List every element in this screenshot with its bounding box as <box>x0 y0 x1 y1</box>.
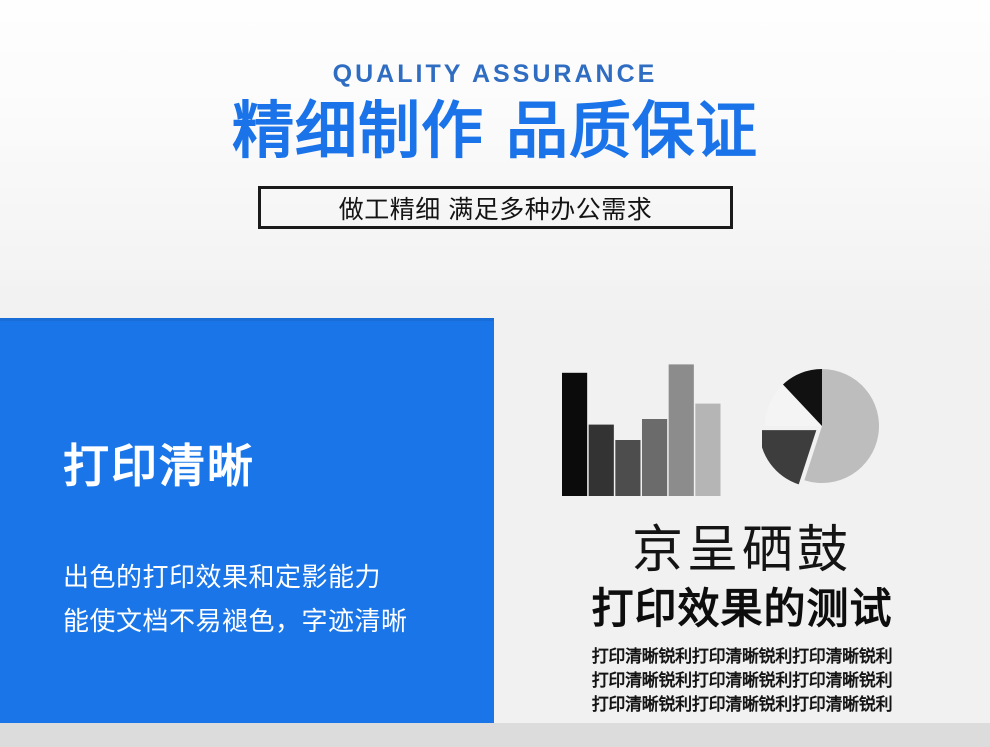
promo-banner-page: QUALITY ASSURANCE 精细制作品质保证 做工精细 满足多种办公需求… <box>0 0 990 747</box>
left-panel-title: 打印清晰 <box>63 440 255 492</box>
sample-print-line: 打印清晰锐利打印清晰锐利打印清晰锐利 <box>494 645 990 669</box>
right-panel-subtitle: 打印效果的测试 <box>494 584 990 634</box>
right-panel-title: 京呈硒鼓 <box>494 521 990 579</box>
bar-4 <box>642 419 667 496</box>
bar-1 <box>562 373 587 496</box>
sample-print-lines: 打印清晰锐利打印清晰锐利打印清晰锐利 打印清晰锐利打印清晰锐利打印清晰锐利 打印… <box>494 645 990 717</box>
sample-print-line: 打印清晰锐利打印清晰锐利打印清晰锐利 <box>494 669 990 693</box>
bar-6 <box>695 404 720 496</box>
charts-illustration <box>554 356 964 496</box>
bottom-strip <box>0 723 990 747</box>
tagline-box: 做工精细 满足多种办公需求 <box>258 186 733 229</box>
feature-section: 打印清晰 出色的打印效果和定影能力 能使文档不易褪色，字迹清晰 <box>0 318 990 723</box>
right-gray-panel: 京呈硒鼓 打印效果的测试 打印清晰锐利打印清晰锐利打印清晰锐利 打印清晰锐利打印… <box>494 318 990 723</box>
headline-left: 精细制作 <box>232 97 484 166</box>
left-blue-panel: 打印清晰 出色的打印效果和定影能力 能使文档不易褪色，字迹清晰 <box>0 318 494 723</box>
eyebrow-text: QUALITY ASSURANCE <box>0 60 990 89</box>
page-title: 精细制作品质保证 <box>0 95 990 169</box>
headline-right: 品质保证 <box>506 97 758 166</box>
sample-print-line: 打印清晰锐利打印清晰锐利打印清晰锐利 <box>494 693 990 717</box>
bar-3 <box>615 440 640 496</box>
bar-5 <box>669 364 694 496</box>
bar-2 <box>589 425 614 496</box>
left-panel-desc-line-2: 能使文档不易褪色，字迹清晰 <box>63 599 408 643</box>
pie-chart <box>762 366 882 486</box>
left-panel-description: 出色的打印效果和定影能力 能使文档不易褪色，字迹清晰 <box>63 555 408 643</box>
bar-chart <box>562 356 722 496</box>
tagline-text: 做工精细 满足多种办公需求 <box>339 190 652 226</box>
left-panel-desc-line-1: 出色的打印效果和定影能力 <box>63 555 408 599</box>
header-section: QUALITY ASSURANCE 精细制作品质保证 做工精细 满足多种办公需求 <box>0 0 990 318</box>
